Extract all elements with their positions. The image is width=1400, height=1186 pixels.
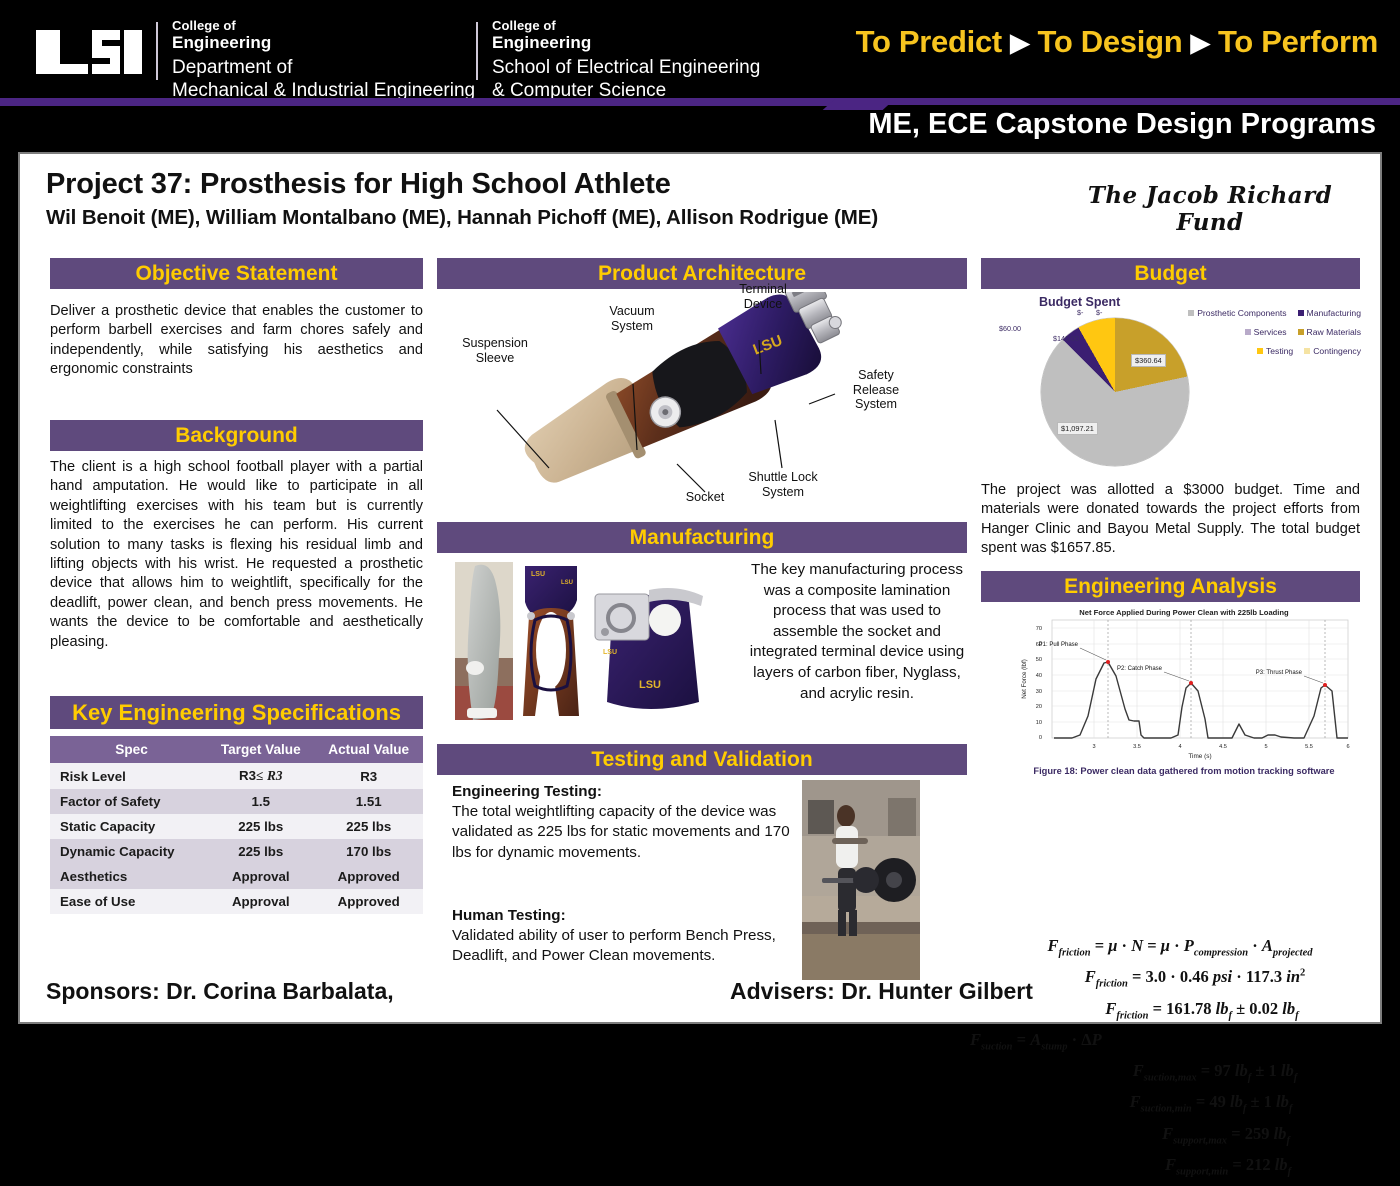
legend-row-1: Prosthetic Components Manufacturing bbox=[1181, 308, 1361, 318]
legend-swatch-icon bbox=[1245, 329, 1251, 335]
header-banner: College of Engineering Department of Mec… bbox=[0, 0, 1400, 98]
power-clean-line-chart: Net Force Applied During Power Clean wit… bbox=[1008, 606, 1360, 778]
legend-item-contingency: Contingency bbox=[1304, 346, 1361, 356]
equation-6: Fsuction,min = 49 lbf ± 1 lbf bbox=[970, 1092, 1390, 1114]
legend-swatch-icon bbox=[1298, 329, 1304, 335]
engineering-testing-text: The total weightlifting capacity of the … bbox=[452, 802, 792, 863]
author-list: Wil Benoit (ME), William Montalbano (ME)… bbox=[46, 206, 878, 230]
svg-text:0: 0 bbox=[1039, 735, 1042, 741]
col-spec: Spec bbox=[50, 736, 207, 763]
cell-actual: 170 lbs bbox=[314, 839, 423, 864]
cell-spec: Static Capacity bbox=[50, 814, 207, 839]
college-block-me: College of Engineering Department of Mec… bbox=[172, 18, 475, 102]
budget-pie-chart: Budget Spent $- $- $60.00 $140.00 $360.6… bbox=[981, 294, 1361, 479]
pie-label-contingency: $- bbox=[1096, 308, 1102, 317]
annotation-p1: P1: Pull Phase bbox=[1039, 642, 1079, 648]
human-testing-text: Validated ability of user to perform Ben… bbox=[452, 926, 782, 967]
section-header-testing: Testing and Validation bbox=[437, 744, 967, 775]
x-axis-label: Time (s) bbox=[1188, 753, 1211, 760]
tagline-predict: To Predict bbox=[856, 24, 1002, 59]
jacob-richard-fund-logo: The Jacob Richard Fund bbox=[1060, 182, 1360, 236]
college-block-ece: College of Engineering School of Electri… bbox=[492, 18, 760, 102]
svg-text:4: 4 bbox=[1178, 744, 1181, 750]
arrow-right-icon-1: ▶ bbox=[1010, 28, 1029, 58]
school-line-1: School of Electrical Engineering bbox=[492, 56, 760, 79]
engineering-testing-label: Engineering Testing: bbox=[452, 782, 782, 802]
lsu-logo bbox=[34, 28, 144, 76]
col-target: Target Value bbox=[207, 736, 314, 763]
tagline: To Predict ▶ To Design ▶ To Perform bbox=[856, 24, 1378, 60]
col-actual: Actual Value bbox=[314, 736, 423, 763]
annotation-p2: P2: Catch Phase bbox=[1117, 666, 1163, 672]
cell-actual: 225 lbs bbox=[314, 814, 423, 839]
college2-line-1: College of bbox=[492, 18, 760, 33]
cell-actual: 1.51 bbox=[314, 789, 423, 814]
legend-swatch-icon bbox=[1188, 310, 1194, 316]
equation-1: Ffriction = μ · N = μ · Pcompression · A… bbox=[970, 936, 1390, 958]
section-header-background: Background bbox=[50, 420, 423, 451]
sponsors-label: Sponsors: Dr. Corina Barbalata, bbox=[46, 978, 394, 1005]
manufacturing-text: The key manufacturing process was a comp… bbox=[748, 560, 966, 704]
table-row: Static Capacity 225 lbs 225 lbs bbox=[50, 814, 423, 839]
svg-text:3.5: 3.5 bbox=[1133, 744, 1141, 750]
svg-text:LSU: LSU bbox=[639, 679, 661, 691]
legend-label: Manufacturing bbox=[1307, 308, 1361, 318]
cell-target: 225 lbs bbox=[207, 839, 314, 864]
background-text: The client is a high school football pla… bbox=[50, 458, 423, 652]
pie-chart-title: Budget Spent bbox=[1039, 295, 1120, 309]
table-header-row: Spec Target Value Actual Value bbox=[50, 736, 423, 763]
line-chart-title: Net Force Applied During Power Clean wit… bbox=[1008, 608, 1360, 617]
logo-divider-1 bbox=[156, 22, 158, 80]
equation-3: Ffriction = 161.78 lbf ± 0.02 lbf bbox=[970, 999, 1390, 1021]
svg-text:5.5: 5.5 bbox=[1305, 744, 1313, 750]
svg-text:4.5: 4.5 bbox=[1219, 744, 1227, 750]
key-engineering-specs-table: Spec Target Value Actual Value Risk Leve… bbox=[50, 736, 423, 914]
equation-4: Fsuction = Astump · ΔP bbox=[970, 1030, 1390, 1052]
pie-label-raw-materials: $360.64 bbox=[1131, 354, 1166, 367]
y-axis-label: Net Force (lbf) bbox=[1021, 659, 1028, 699]
legend-swatch-icon bbox=[1304, 348, 1310, 354]
svg-text:LSU: LSU bbox=[531, 571, 545, 578]
cell-target: R3≤ R3 bbox=[207, 763, 314, 789]
legend-label: Raw Materials bbox=[1307, 327, 1361, 337]
annotation-p3: P3: Thrust Phase bbox=[1256, 670, 1303, 676]
svg-text:10: 10 bbox=[1036, 720, 1042, 726]
cell-target: 1.5 bbox=[207, 789, 314, 814]
cell-actual: R3 bbox=[314, 763, 423, 789]
equation-5: Fsuction,max = 97 lbf ± 1 lbf bbox=[970, 1061, 1390, 1083]
legend-row-2: Services Raw Materials bbox=[1181, 327, 1361, 337]
cell-actual: Approved bbox=[314, 889, 423, 914]
svg-text:30: 30 bbox=[1036, 689, 1042, 695]
section-header-architecture: Product Architecture bbox=[437, 258, 967, 289]
cell-target: 225 lbs bbox=[207, 814, 314, 839]
tagline-design: To Design bbox=[1038, 24, 1183, 59]
legend-row-3: Testing Contingency bbox=[1181, 346, 1361, 356]
cell-spec: Dynamic Capacity bbox=[50, 839, 207, 864]
arrow-right-icon-2: ▶ bbox=[1191, 28, 1210, 58]
manufacturing-photos: LSU LSU LSU LSU bbox=[453, 558, 743, 723]
legend-item-manufacturing: Manufacturing bbox=[1298, 308, 1361, 318]
pie-label-services: $- bbox=[1077, 308, 1083, 317]
callout-terminal-device: TerminalDevice bbox=[719, 282, 807, 311]
cell-spec: Aesthetics bbox=[50, 864, 207, 889]
svg-text:LSU: LSU bbox=[561, 580, 573, 586]
callout-vacuum-system: VacuumSystem bbox=[587, 304, 677, 333]
section-header-budget: Budget bbox=[981, 258, 1360, 289]
table-row: Risk Level R3≤ R3 R3 bbox=[50, 763, 423, 789]
legend-swatch-icon bbox=[1298, 310, 1304, 316]
legend-swatch-icon bbox=[1257, 348, 1263, 354]
equation-8: Fsupport,min = 212 lbf bbox=[970, 1155, 1390, 1177]
cell-actual: Approved bbox=[314, 864, 423, 889]
table-row: Factor of Safety 1.5 1.51 bbox=[50, 789, 423, 814]
svg-text:20: 20 bbox=[1036, 704, 1042, 710]
section-header-objective: Objective Statement bbox=[50, 258, 423, 289]
legend-label: Testing bbox=[1266, 346, 1293, 356]
budget-text: The project was allotted a $3000 budget.… bbox=[981, 481, 1360, 559]
equation-7: Fsupport,max = 259 lbf bbox=[970, 1124, 1390, 1146]
pie-label-testing: $140.00 bbox=[1053, 334, 1079, 343]
section-header-analysis: Engineering Analysis bbox=[981, 571, 1360, 602]
department-line-1: Department of bbox=[172, 56, 475, 79]
legend-item-raw-materials: Raw Materials bbox=[1298, 327, 1361, 337]
table-row: Aesthetics Approval Approved bbox=[50, 864, 423, 889]
manufacturing-photo-set: LSU LSU LSU LSU bbox=[453, 558, 753, 726]
college-line-2: Engineering bbox=[172, 33, 475, 52]
tagline-perform: To Perform bbox=[1218, 24, 1378, 59]
line-chart-plot: 010 2030 4050 6070 33.5 44.5 55.5 6 Time… bbox=[1008, 606, 1360, 764]
capstone-rule bbox=[864, 98, 1400, 105]
cell-spec: Ease of Use bbox=[50, 889, 207, 914]
callout-safety-release-system: SafetyReleaseSystem bbox=[835, 368, 917, 412]
cell-spec: Risk Level bbox=[50, 763, 207, 789]
svg-text:5: 5 bbox=[1264, 744, 1267, 750]
svg-text:3: 3 bbox=[1092, 744, 1095, 750]
cell-target: Approval bbox=[207, 864, 314, 889]
logo-divider-2 bbox=[476, 22, 478, 80]
engineering-equations: Ffriction = μ · N = μ · Pcompression · A… bbox=[970, 936, 1390, 1186]
pie-chart-legend: Prosthetic Components Manufacturing Serv… bbox=[1181, 308, 1361, 365]
svg-text:6: 6 bbox=[1346, 744, 1349, 750]
page-title: Project 37: Prosthesis for High School A… bbox=[46, 168, 671, 201]
section-header-manufacturing: Manufacturing bbox=[437, 522, 967, 553]
cell-target: Approval bbox=[207, 889, 314, 914]
legend-item-services: Services bbox=[1245, 327, 1287, 337]
callout-socket: Socket bbox=[673, 490, 737, 505]
section-header-specs: Key Engineering Specifications bbox=[50, 696, 423, 729]
cell-spec: Factor of Safety bbox=[50, 789, 207, 814]
human-testing-photo bbox=[802, 780, 920, 980]
svg-text:LSU: LSU bbox=[603, 649, 617, 656]
callout-shuttle-lock-system: Shuttle LockSystem bbox=[737, 470, 829, 499]
poster-root: College of Engineering Department of Mec… bbox=[0, 0, 1400, 1050]
pie-label-manufacturing: $60.00 bbox=[999, 324, 1021, 333]
line-chart-caption: Figure 18: Power clean data gathered fro… bbox=[1008, 766, 1360, 776]
svg-text:70: 70 bbox=[1036, 626, 1042, 632]
pie-label-prosthetic-components: $1,097.21 bbox=[1057, 422, 1098, 435]
human-testing-label: Human Testing: bbox=[452, 906, 782, 926]
college2-line-2: Engineering bbox=[492, 33, 760, 52]
product-architecture-figure: LSU bbox=[437, 292, 967, 518]
legend-item-testing: Testing bbox=[1257, 346, 1293, 356]
legend-label: Services bbox=[1254, 327, 1287, 337]
objective-text: Deliver a prosthetic device that enables… bbox=[50, 302, 423, 380]
table-row: Ease of Use Approval Approved bbox=[50, 889, 423, 914]
table-row: Dynamic Capacity 225 lbs 170 lbs bbox=[50, 839, 423, 864]
equation-2: Ffriction = 3.0 · 0.46 psi · 117.3 in2 bbox=[970, 967, 1390, 989]
svg-text:50: 50 bbox=[1036, 657, 1042, 663]
legend-label: Contingency bbox=[1313, 346, 1361, 356]
svg-text:40: 40 bbox=[1036, 673, 1042, 679]
capstone-programs-label: ME, ECE Capstone Design Programs bbox=[868, 108, 1376, 141]
legend-item-prosthetic-components: Prosthetic Components bbox=[1188, 308, 1286, 318]
poster-sheet: Project 37: Prosthesis for High School A… bbox=[18, 152, 1382, 1024]
legend-label: Prosthetic Components bbox=[1197, 308, 1286, 318]
callout-suspension-sleeve: SuspensionSleeve bbox=[443, 336, 547, 365]
college-line-1: College of bbox=[172, 18, 475, 33]
